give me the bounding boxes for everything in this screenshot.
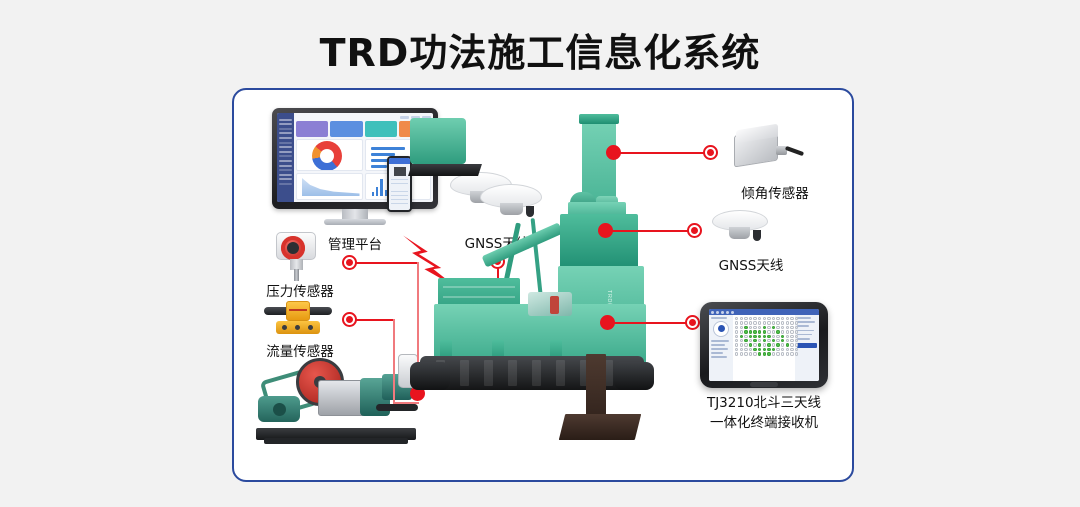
rig-cutter-base-plate	[559, 414, 641, 440]
rig-crawler-track	[420, 356, 644, 390]
connector-node-pressure[interactable]	[342, 255, 357, 270]
satellite-dot	[740, 330, 743, 333]
wire-gnss-right	[604, 230, 694, 232]
monitor-stand-base	[324, 219, 386, 225]
tablet-receiver-icon	[700, 302, 828, 388]
satellite-dot	[790, 343, 793, 346]
satellite-dot	[763, 335, 766, 338]
rig-power-head	[560, 214, 638, 270]
satellite-dot	[758, 321, 761, 324]
tablet-compass-widget	[713, 321, 729, 337]
satellite-dot	[758, 330, 761, 333]
satellite-dot	[776, 317, 779, 320]
satellite-dot	[735, 321, 738, 324]
satellite-dot	[776, 321, 779, 324]
satellite-dot	[767, 352, 770, 355]
satellite-dot	[744, 317, 747, 320]
satellite-dot	[735, 348, 738, 351]
gnss-antenna-right-label: GNSS天线	[696, 254, 806, 274]
satellite-dot	[758, 352, 761, 355]
satellite-dot	[744, 343, 747, 346]
satellite-dot	[790, 317, 793, 320]
satellite-dot	[744, 352, 747, 355]
connector-node-cutter[interactable]	[600, 315, 615, 330]
poster-root: TRD功法施工信息化系统	[0, 0, 1080, 507]
tablet-main	[709, 315, 819, 381]
satellite-dot	[758, 343, 761, 346]
satellite-dot	[786, 317, 789, 320]
satellite-dot	[767, 339, 770, 342]
grout-pump-icon	[256, 352, 416, 444]
satellite-dot	[744, 330, 747, 333]
satellite-dot	[767, 317, 770, 320]
pump-crankcase	[318, 380, 366, 416]
satellite-dot	[781, 335, 784, 338]
satellite-dot	[790, 348, 793, 351]
kpi-card	[365, 121, 397, 137]
satellite-dot	[740, 352, 743, 355]
rig-boom	[482, 222, 564, 267]
diagram-stage: 管理平台 压力传感器 流量传感器	[234, 90, 852, 480]
satellite-dot	[795, 321, 798, 324]
satellite-dot	[767, 330, 770, 333]
connector-node-inclination[interactable]	[703, 145, 718, 160]
phone-screen	[389, 158, 410, 210]
inclination-sensor-label: 倾角传感器	[720, 182, 830, 202]
satellite-dot	[744, 335, 747, 338]
satellite-dot	[767, 321, 770, 324]
rig-track-idler-rear	[614, 362, 654, 390]
wire-pressure-h	[356, 262, 418, 264]
satellite-dot	[795, 343, 798, 346]
flow-sensor-base	[276, 321, 320, 334]
satellite-dot	[781, 339, 784, 342]
satellite-dot	[776, 326, 779, 329]
tablet-satellite-grid	[733, 315, 795, 381]
satellite-dot	[772, 348, 775, 351]
page-title: TRD功法施工信息化系统	[0, 22, 1080, 77]
rig-cab-window	[528, 292, 572, 316]
tablet-body	[700, 302, 828, 388]
satellite-dot	[786, 326, 789, 329]
satellite-dot	[790, 321, 793, 324]
satellite-dot	[772, 343, 775, 346]
pressure-sensor-head	[276, 232, 316, 260]
satellite-dot	[749, 335, 752, 338]
satellite-dot	[767, 326, 770, 329]
satellite-dot	[776, 339, 779, 342]
satellite-dot	[786, 339, 789, 342]
satellite-dot	[735, 330, 738, 333]
satellite-dot	[740, 335, 743, 338]
satellite-dot	[740, 317, 743, 320]
satellite-dot	[758, 348, 761, 351]
satellite-dot	[786, 348, 789, 351]
area-chart	[302, 178, 360, 196]
satellite-dot	[763, 326, 766, 329]
satellite-dot	[735, 343, 738, 346]
satellite-dot	[790, 352, 793, 355]
trd-drill-rig-icon: TRD工法机	[410, 118, 700, 450]
tablet-right-pane	[795, 315, 819, 381]
satellite-dot	[744, 321, 747, 324]
satellite-dot	[749, 321, 752, 324]
satellite-dot	[772, 330, 775, 333]
rig-track-pad	[408, 164, 482, 176]
tablet-label-line1: TJ3210北斗三天线	[664, 394, 854, 412]
satellite-dot	[744, 348, 747, 351]
satellite-dot	[749, 330, 752, 333]
satellite-dot	[758, 317, 761, 320]
flow-sensor-icon	[264, 298, 332, 340]
satellite-dot	[749, 348, 752, 351]
wire-inclination	[612, 152, 710, 154]
satellite-dot	[776, 348, 779, 351]
satellite-dot	[763, 343, 766, 346]
satellite-dot	[763, 352, 766, 355]
satellite-dot	[758, 335, 761, 338]
satellite-dot	[749, 343, 752, 346]
satellite-dot	[735, 317, 738, 320]
donut-chart	[312, 141, 342, 171]
satellite-dot	[772, 317, 775, 320]
rig-mast-cap	[579, 114, 619, 124]
satellite-dot	[753, 317, 756, 320]
satellite-dot	[740, 339, 743, 342]
satellite-dot	[772, 326, 775, 329]
satellite-dot	[786, 352, 789, 355]
tablet-action-button[interactable]	[797, 343, 817, 348]
satellite-dot	[781, 343, 784, 346]
tablet-screen	[709, 309, 819, 381]
satellite-dot	[763, 321, 766, 324]
satellite-dot	[749, 326, 752, 329]
diagram-panel: 管理平台 压力传感器 流量传感器	[232, 88, 854, 482]
satellite-dot	[763, 330, 766, 333]
phone-icon	[387, 156, 412, 212]
rig-track-idler-front	[410, 362, 450, 390]
satellite-dot	[790, 339, 793, 342]
gnss-antenna-icon	[712, 210, 786, 248]
kpi-card	[330, 121, 362, 137]
satellite-dot	[753, 339, 756, 342]
satellite-dot	[744, 339, 747, 342]
connector-node-mast[interactable]	[606, 145, 621, 160]
satellite-dot	[781, 321, 784, 324]
satellite-dot	[776, 343, 779, 346]
satellite-dot	[781, 352, 784, 355]
wire-flow-h	[356, 319, 394, 321]
satellite-dot	[749, 317, 752, 320]
satellite-dot	[753, 330, 756, 333]
satellite-dot	[735, 335, 738, 338]
satellite-dot	[767, 348, 770, 351]
satellite-dot	[744, 326, 747, 329]
connector-node-tablet[interactable]	[685, 315, 700, 330]
satellite-dot	[776, 352, 779, 355]
kpi-card	[296, 121, 328, 137]
connector-node-gnss-right[interactable]	[687, 223, 702, 238]
connector-node-head[interactable]	[598, 223, 613, 238]
satellite-dot	[753, 352, 756, 355]
donut-chart-card	[296, 139, 363, 171]
tablet-left-pane	[709, 315, 733, 381]
satellite-dot	[735, 352, 738, 355]
satellite-dot	[740, 348, 743, 351]
tablet-brand-chin	[750, 382, 778, 387]
satellite-dot	[763, 339, 766, 342]
satellite-dot	[786, 335, 789, 338]
pressure-sensor-label: 压力传感器	[252, 280, 348, 300]
satellite-dot	[786, 343, 789, 346]
satellite-dot	[749, 352, 752, 355]
satellite-dot	[753, 326, 756, 329]
wire-flow-v	[393, 319, 395, 403]
satellite-dot	[749, 339, 752, 342]
satellite-dot	[753, 321, 756, 324]
tablet-label-line2: 一体化终端接收机	[664, 414, 854, 432]
satellite-dot	[786, 330, 789, 333]
wire-tablet	[606, 322, 694, 324]
flow-sensor-body	[286, 301, 310, 321]
satellite-dot	[776, 335, 779, 338]
satellite-dot	[758, 339, 761, 342]
inclination-sensor-icon	[726, 128, 804, 176]
area-chart-card	[296, 173, 363, 200]
satellite-dot	[790, 335, 793, 338]
satellite-dot	[753, 343, 756, 346]
satellite-dot	[786, 321, 789, 324]
satellite-dot	[753, 335, 756, 338]
satellite-dot	[795, 330, 798, 333]
pressure-sensor-dial	[281, 236, 305, 260]
satellite-dot	[740, 321, 743, 324]
satellite-dot	[772, 352, 775, 355]
satellite-dot	[772, 335, 775, 338]
satellite-dot	[767, 335, 770, 338]
satellite-dot	[735, 339, 738, 342]
satellite-dot	[772, 339, 775, 342]
inclination-sensor-cable	[785, 146, 804, 156]
pump-skid	[264, 438, 408, 444]
satellite-dot	[758, 326, 761, 329]
satellite-dot	[772, 321, 775, 324]
satellite-dot	[763, 317, 766, 320]
satellite-dot	[790, 330, 793, 333]
satellite-dot	[781, 348, 784, 351]
dashboard-sidebar	[277, 113, 294, 202]
rig-operator-cab	[410, 118, 466, 164]
satellite-dot	[740, 326, 743, 329]
satellite-dot	[781, 317, 784, 320]
satellite-dot	[790, 326, 793, 329]
satellite-dot	[753, 348, 756, 351]
pump-motor	[258, 396, 300, 422]
satellite-dot	[767, 343, 770, 346]
satellite-dot	[735, 326, 738, 329]
satellite-dot	[763, 348, 766, 351]
satellite-dot	[781, 330, 784, 333]
satellite-dot	[776, 330, 779, 333]
connector-node-flow[interactable]	[342, 312, 357, 327]
satellite-dot	[781, 326, 784, 329]
satellite-dot	[795, 352, 798, 355]
satellite-dot	[740, 343, 743, 346]
